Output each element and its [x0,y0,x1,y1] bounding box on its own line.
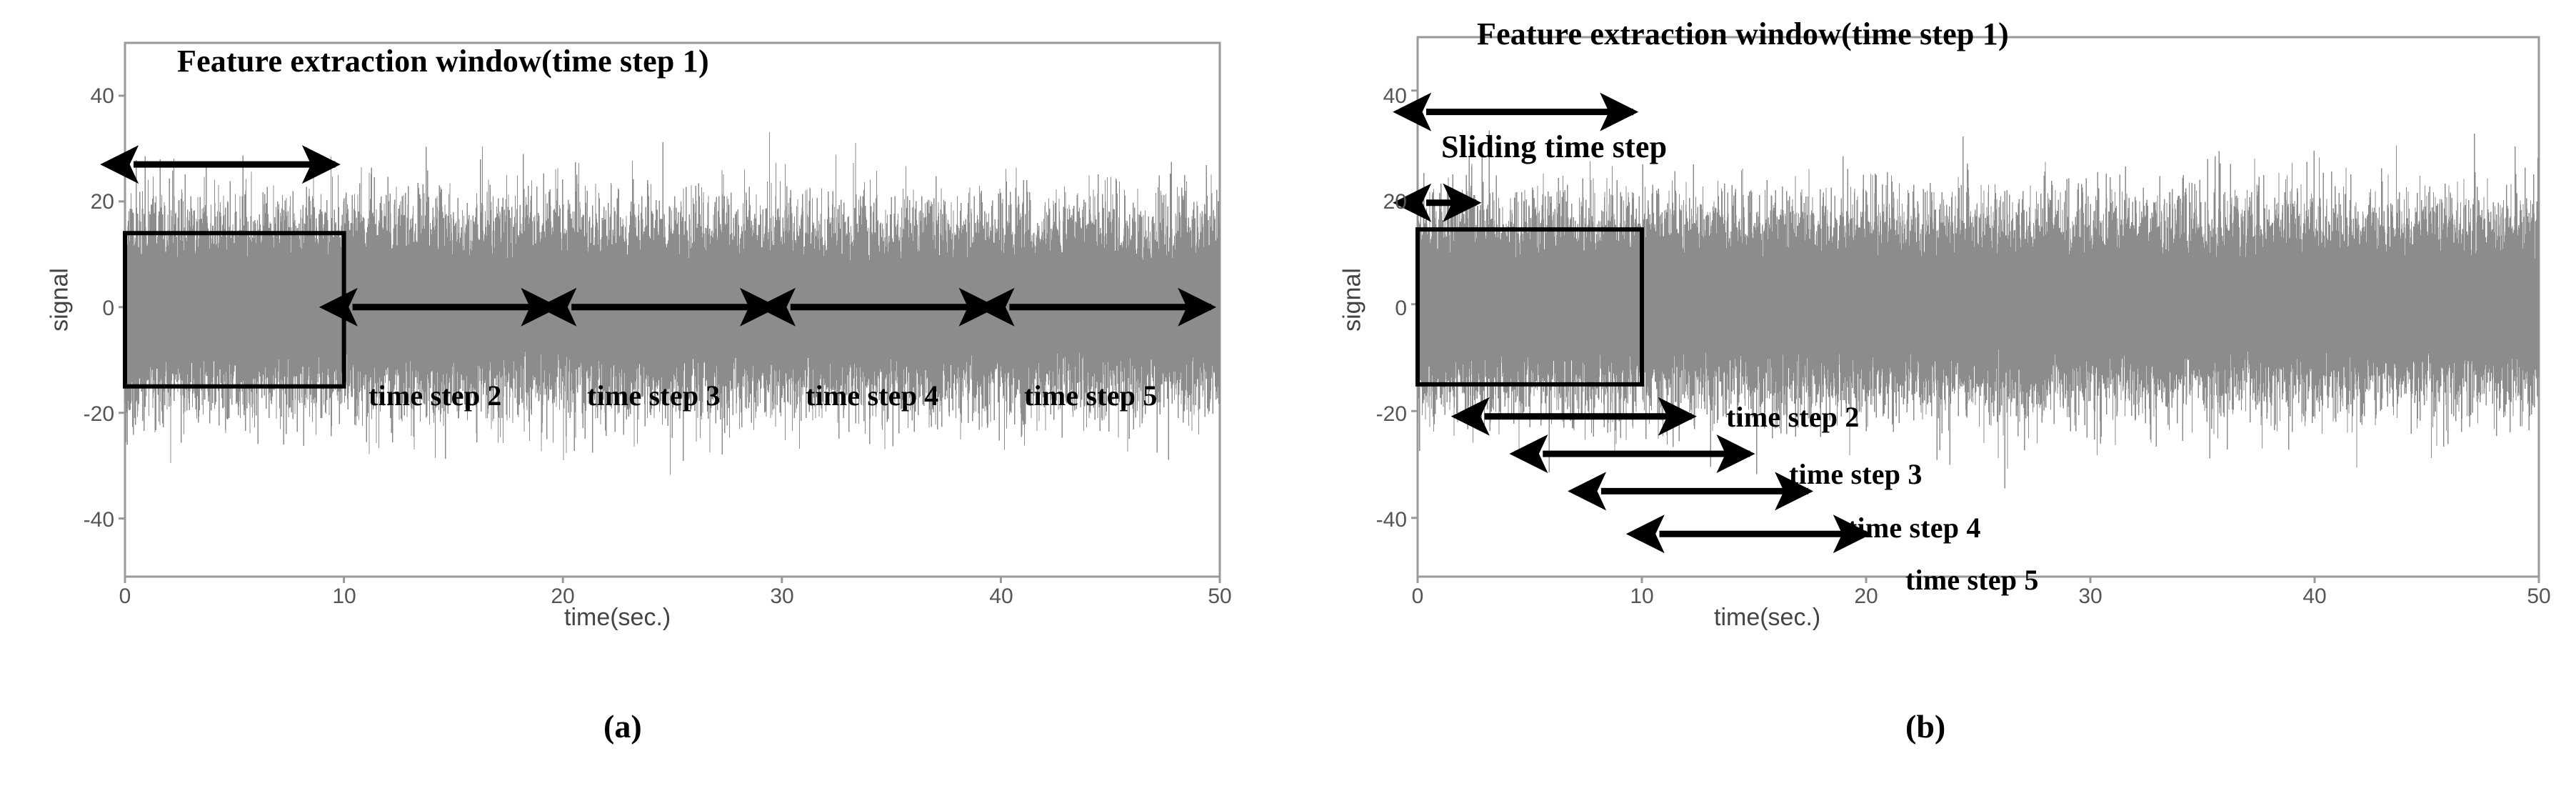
panel-a-step-label-4: time step 4 [806,379,939,412]
panel-b-xtick-50: 50 [2525,584,2553,609]
panel-b-xtick-10: 10 [1628,584,1656,609]
panel-b-ylabel: signal [1339,236,1367,364]
panel-a-xtick-10: 10 [330,584,359,609]
panel-b-plot [1286,0,2576,786]
panel-a-ytick-m20: -20 [64,402,114,427]
panel-a-xlabel: time(sec.) [564,604,671,632]
panel-a-ytick-m40: -40 [64,508,114,532]
panel-b-step-label-5: time step 5 [1905,563,2039,597]
panel-a-step-label-3: time step 3 [587,379,721,412]
panel-b-ytick-40: 40 [1371,84,1407,109]
panel-b-slide-label: Sliding time step [1441,129,1667,165]
panel-b-ytick-m40: -40 [1357,508,1407,532]
panel-a-ylabel: signal [46,236,74,364]
panel-a-xtick-40: 40 [987,584,1016,609]
panel-a: signal time(sec.) 40 20 0 -20 -40 0 10 2… [0,0,1286,786]
panel-a-xtick-20: 20 [548,584,577,609]
panel-a-caption: (a) [603,707,642,745]
figure-root: signal time(sec.) 40 20 0 -20 -40 0 10 2… [0,0,2576,786]
panel-a-step-label-5: time step 5 [1024,379,1158,412]
panel-b-ytick-m20: -20 [1357,402,1407,427]
panel-b-xtick-20: 20 [1852,584,1880,609]
panel-b-ytick-0: 0 [1371,297,1407,321]
panel-a-xtick-30: 30 [768,584,796,609]
panel-a-xtick-0: 0 [111,584,139,609]
panel-b-caption: (b) [1905,707,1945,745]
panel-b: signal time(sec.) 40 20 0 -20 -40 0 10 2… [1286,0,2576,786]
panel-b-step-label-2: time step 2 [1726,400,1860,434]
panel-b-ytick-20: 20 [1371,190,1407,214]
panel-b-xtick-0: 0 [1403,584,1432,609]
panel-b-step-label-4: time step 4 [1848,511,1981,544]
panel-a-window-label: Feature extraction window(time step 1) [177,43,709,79]
panel-a-xtick-50: 50 [1206,584,1234,609]
panel-b-step-label-3: time step 3 [1789,457,1923,491]
panel-a-ytick-40: 40 [79,84,114,109]
panel-a-step-label-2: time step 2 [369,379,502,412]
panel-b-xtick-40: 40 [2300,584,2329,609]
panel-b-xtick-30: 30 [2076,584,2105,609]
panel-b-window-label: Feature extraction window(time step 1) [1477,16,2009,52]
panel-a-ytick-20: 20 [79,190,114,214]
panel-a-ytick-0: 0 [79,297,114,321]
panel-b-xlabel: time(sec.) [1714,604,1820,632]
